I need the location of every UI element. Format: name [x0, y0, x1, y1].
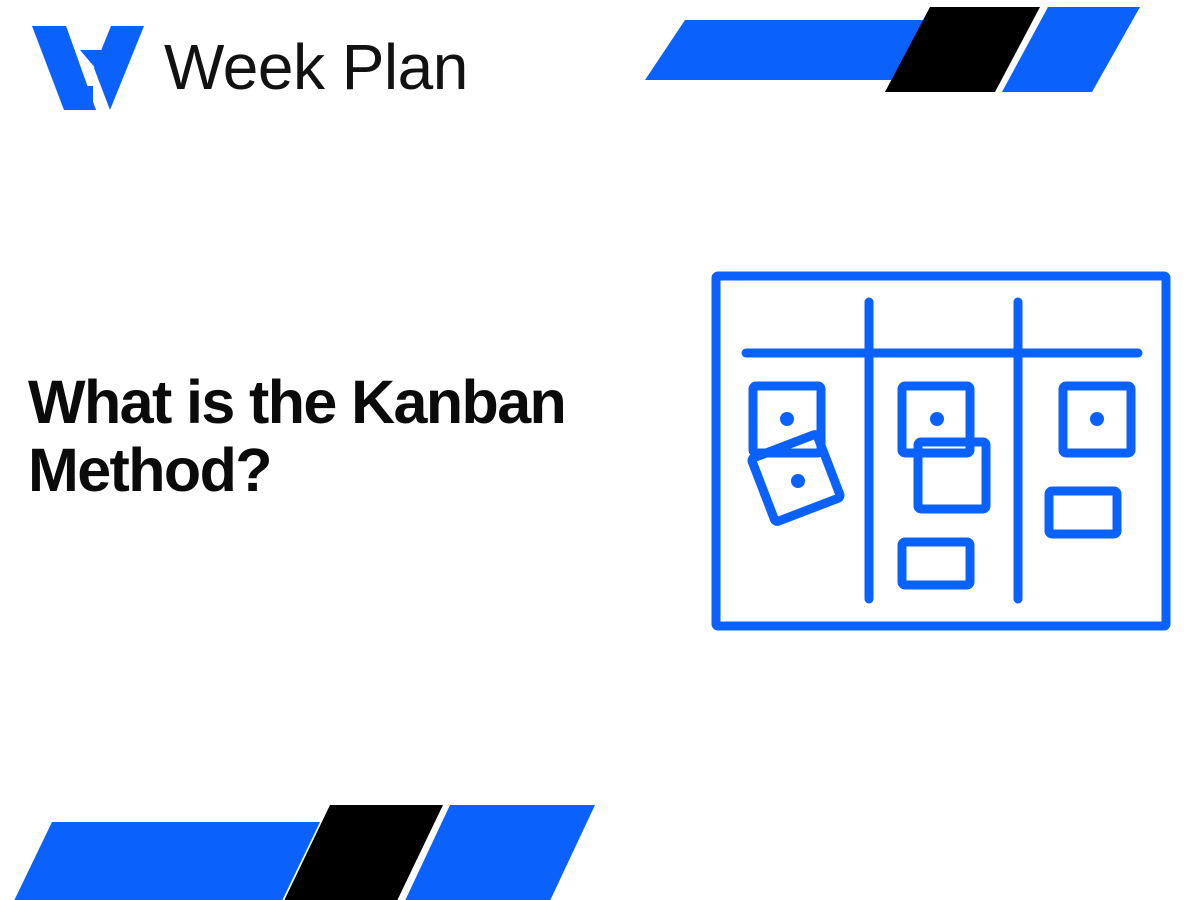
brand-name: Week Plan — [164, 35, 468, 99]
card-dot-column1 — [780, 412, 794, 426]
bottom-decorative-banner — [0, 795, 620, 900]
week-plan-w-logo-icon — [30, 24, 146, 110]
page-title-line-2: Method? — [28, 436, 271, 504]
card-dot-column3 — [1090, 412, 1104, 426]
top-decorative-banner — [640, 0, 1200, 115]
card-dot-column2 — [930, 412, 944, 426]
card-dot-tilted — [791, 474, 805, 488]
card-column2-bar — [902, 542, 970, 585]
card-column3-bar — [1049, 491, 1117, 534]
page-root: Week Plan What is the Kanban Method? — [0, 0, 1200, 900]
brand-lockup[interactable]: Week Plan — [30, 22, 468, 112]
page-title-line-1: What is the Kanban — [28, 368, 565, 436]
page-title: What is the Kanban Method? — [28, 368, 708, 505]
parallelogram-stripe-group-icon — [0, 795, 620, 900]
kanban-board-illustration — [706, 266, 1176, 636]
parallelogram-stripe-group-icon — [640, 0, 1200, 115]
